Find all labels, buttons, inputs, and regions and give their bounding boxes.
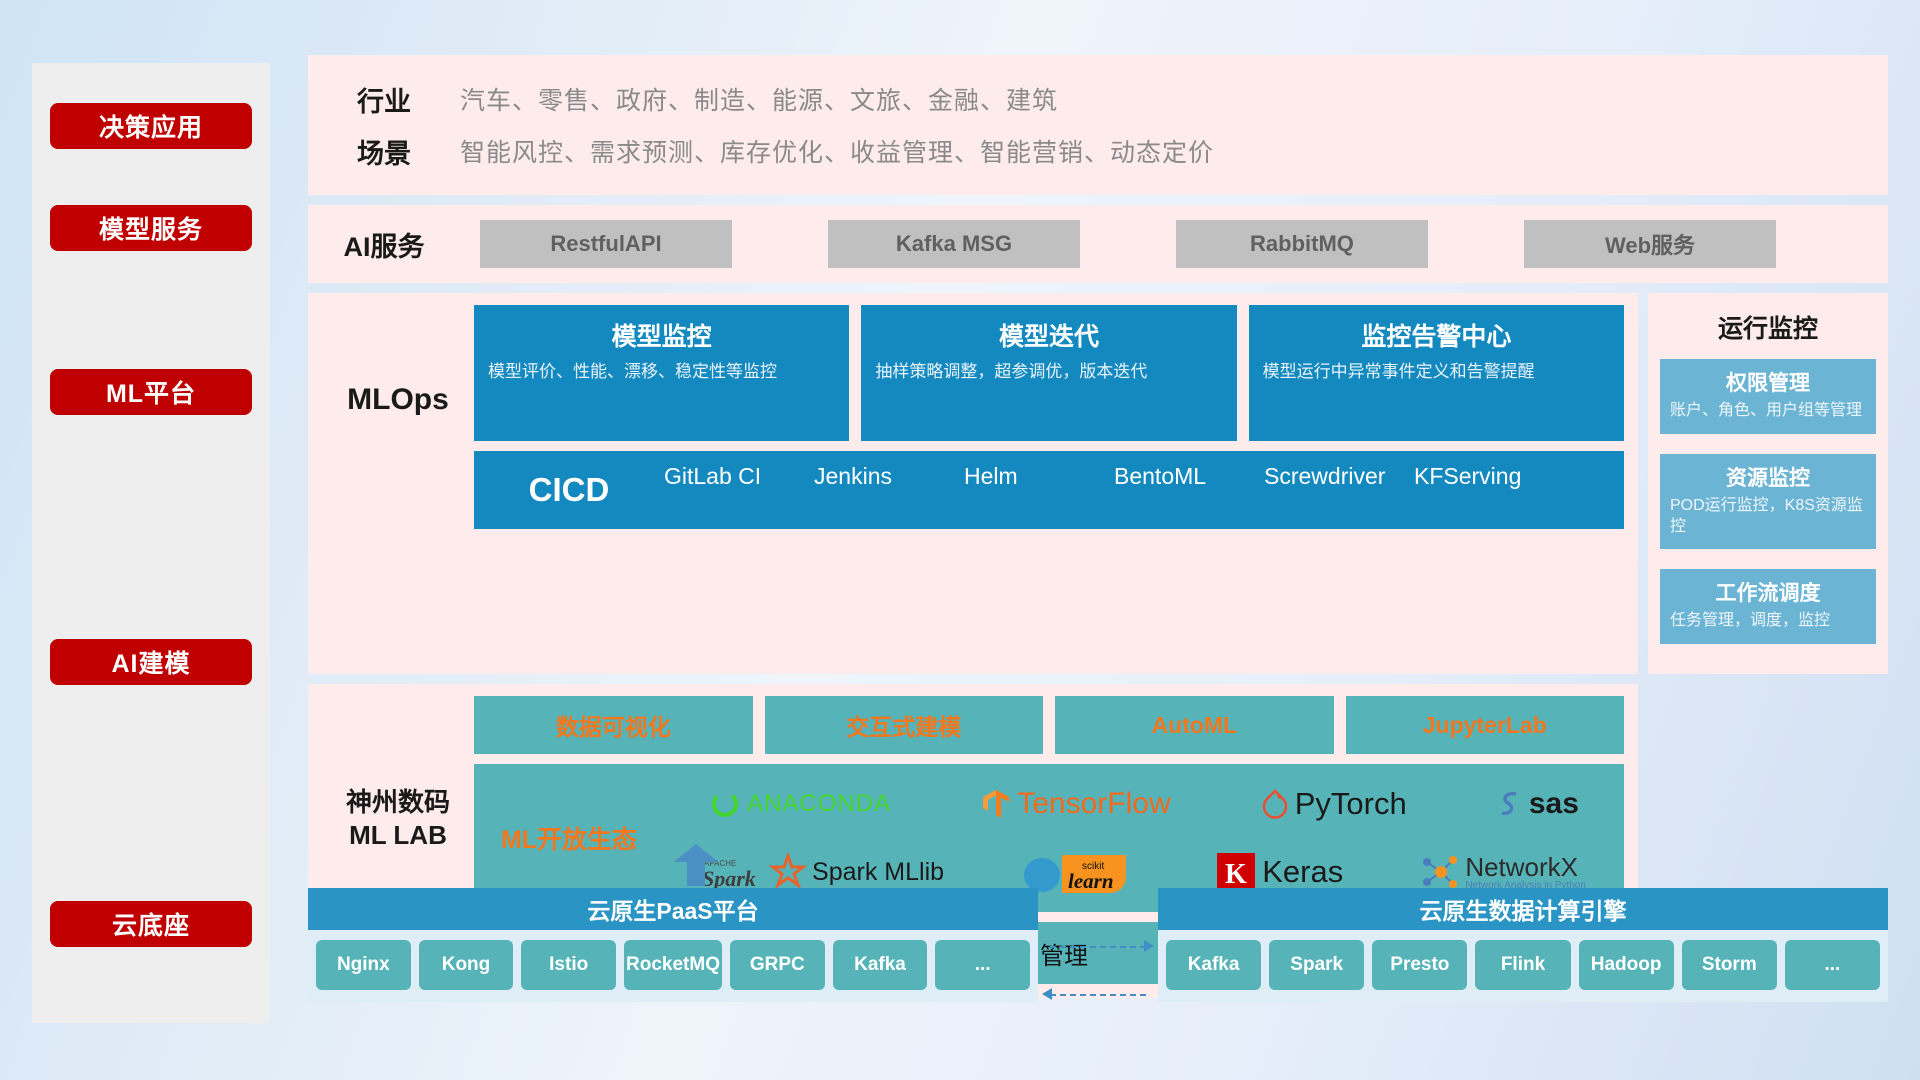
dashed-arrow-right <box>1144 940 1154 952</box>
stack-layer-rail: 决策应用 模型服务 ML平台 AI建模 云底座 <box>32 63 270 1023</box>
band-mlops: MLOps 模型监控 模型评价、性能、漂移、稳定性等监控 模型迭代 抽样策略调整… <box>308 293 1638 674</box>
ai-services-button-group: RestfulAPI Kafka MSG RabbitMQ Web服务 <box>460 220 1776 268</box>
svg-text:K: K <box>1225 859 1247 890</box>
sas-logo: sas <box>1497 787 1579 821</box>
row-ml-platform: MLOps 模型监控 模型评价、性能、漂移、稳定性等监控 模型迭代 抽样策略调整… <box>308 293 1888 674</box>
cloud-data-engine-block: 云原生数据计算引擎 Kafka Spark Presto Flink Hadoo… <box>1158 888 1888 1002</box>
rail-chip-model-service[interactable]: 模型服务 <box>50 205 252 251</box>
paas-chip-kong[interactable]: Kong <box>419 940 514 990</box>
tool-card-interactive-modeling[interactable]: 交互式建模 <box>765 696 1044 754</box>
mlops-card-model-iteration[interactable]: 模型迭代 抽样策略调整，超参调优，版本迭代 <box>861 305 1236 441</box>
cicd-label: CICD <box>474 471 664 509</box>
dashed-link-bottom <box>1050 994 1146 996</box>
pytorch-logo: PyTorch <box>1261 786 1407 822</box>
engine-chip-presto[interactable]: Presto <box>1372 940 1467 990</box>
runtime-monitoring-title: 运行监控 <box>1660 309 1876 345</box>
paas-chip-nginx[interactable]: Nginx <box>316 940 411 990</box>
rail-chip-decision-apps[interactable]: 决策应用 <box>50 103 252 149</box>
band-ai-services: AI服务 RestfulAPI Kafka MSG RabbitMQ Web服务 <box>308 205 1888 283</box>
engine-chip-hadoop[interactable]: Hadoop <box>1579 940 1674 990</box>
card-title: 资源监控 <box>1670 462 1866 492</box>
rail-chip-cloud-base[interactable]: 云底座 <box>50 901 252 947</box>
ml-lab-label: 神州数码 ML LAB <box>322 696 474 851</box>
cicd-item-screwdriver[interactable]: Screwdriver <box>1264 460 1414 520</box>
pytorch-icon <box>1261 788 1289 820</box>
paas-chip-grpc[interactable]: GRPC <box>730 940 825 990</box>
cloud-paas-title: 云原生PaaS平台 <box>308 888 1038 930</box>
ai-service-kafka-msg[interactable]: Kafka MSG <box>828 220 1080 268</box>
spark-mllib-logo: APACHE Spark Spark MLlib <box>702 852 944 892</box>
engine-chip-more[interactable]: ... <box>1785 940 1880 990</box>
keras-logo: K Keras <box>1216 852 1343 892</box>
ai-service-restful-api[interactable]: RestfulAPI <box>480 220 732 268</box>
cicd-item-kfserving[interactable]: KFServing <box>1414 460 1564 520</box>
tool-card-data-visualization[interactable]: 数据可视化 <box>474 696 753 754</box>
industry-label: 行业 <box>308 80 460 119</box>
card-title: 模型迭代 <box>875 317 1222 353</box>
keras-label: Keras <box>1262 854 1343 890</box>
rail-chip-ml-platform[interactable]: ML平台 <box>50 369 252 415</box>
engine-chip-storm[interactable]: Storm <box>1682 940 1777 990</box>
scenario-label: 场景 <box>308 132 460 171</box>
dashed-arrow-left <box>1042 988 1052 1000</box>
cloud-paas-block: 云原生PaaS平台 Nginx Kong Istio RocketMQ GRPC… <box>308 888 1038 1002</box>
ai-service-web[interactable]: Web服务 <box>1524 220 1776 268</box>
cicd-bar: CICD GitLab CI Jenkins Helm BentoML Scre… <box>474 451 1624 529</box>
ml-tool-card-group: 数据可视化 交互式建模 AutoML JupyterLab <box>474 696 1624 754</box>
paas-chip-kafka[interactable]: Kafka <box>833 940 928 990</box>
keras-icon: K <box>1216 852 1256 892</box>
paas-chip-rocketmq[interactable]: RocketMQ <box>624 940 722 990</box>
anaconda-logo: ANACONDA <box>709 788 891 820</box>
ai-service-rabbitmq[interactable]: RabbitMQ <box>1176 220 1428 268</box>
tensorflow-icon <box>981 788 1011 820</box>
engine-chip-flink[interactable]: Flink <box>1475 940 1570 990</box>
mlops-content: 模型监控 模型评价、性能、漂移、稳定性等监控 模型迭代 抽样策略调整，超参调优，… <box>474 305 1624 529</box>
networkx-logo: NetworkX Network Analysis in Python <box>1419 852 1586 892</box>
industry-values: 汽车、零售、政府、制造、能源、文旅、金融、建筑 <box>460 81 1058 117</box>
card-desc: 抽样策略调整，超参调优，版本迭代 <box>875 361 1222 384</box>
ml-open-ecosystem-label: ML开放生态 <box>474 820 664 856</box>
mlops-card-model-monitoring[interactable]: 模型监控 模型评价、性能、漂移、稳定性等监控 <box>474 305 849 441</box>
cloud-base-row: 云原生PaaS平台 Nginx Kong Istio RocketMQ GRPC… <box>308 888 1888 1002</box>
tensorflow-label: TensorFlow <box>1017 787 1170 821</box>
cicd-item-bentoml[interactable]: BentoML <box>1114 460 1264 520</box>
card-desc: 账户、角色、用户组等管理 <box>1670 401 1866 422</box>
band-runtime-monitoring: 运行监控 权限管理 账户、角色、用户组等管理 资源监控 POD运行监控，K8S资… <box>1648 293 1888 674</box>
mllib-label: Spark MLlib <box>812 858 944 887</box>
card-title: 监控告警中心 <box>1263 317 1610 353</box>
ml-lab-label-line1: 神州数码 <box>322 786 474 819</box>
application-row-scenario: 场景 智能风控、需求预测、库存优化、收益管理、智能营销、动态定价 <box>308 125 1888 177</box>
paas-chip-more[interactable]: ... <box>935 940 1030 990</box>
pytorch-label: PyTorch <box>1295 786 1407 822</box>
sas-label: sas <box>1529 787 1579 821</box>
networkx-icon <box>1419 852 1459 892</box>
arrow-up-data-engine <box>674 844 718 886</box>
dashed-link-top <box>1050 946 1146 948</box>
engine-chip-spark[interactable]: Spark <box>1269 940 1364 990</box>
card-desc: 模型评价、性能、漂移、稳定性等监控 <box>488 361 835 384</box>
monitor-card-permission[interactable]: 权限管理 账户、角色、用户组等管理 <box>1660 359 1876 434</box>
anaconda-label: ANACONDA <box>747 790 891 818</box>
ecosystem-logo-row-1: ANACONDA TensorFlow <box>664 771 1624 837</box>
card-desc: 模型运行中异常事件定义和告警提醒 <box>1263 361 1610 384</box>
architecture-main: 行业 汽车、零售、政府、制造、能源、文旅、金融、建筑 场景 智能风控、需求预测、… <box>308 55 1888 998</box>
tool-card-jupyterlab[interactable]: JupyterLab <box>1346 696 1625 754</box>
cicd-item-helm[interactable]: Helm <box>964 460 1114 520</box>
sas-icon <box>1497 789 1523 819</box>
tensorflow-logo: TensorFlow <box>981 787 1170 821</box>
monitor-card-workflow[interactable]: 工作流调度 任务管理，调度，监控 <box>1660 569 1876 644</box>
tool-card-automl[interactable]: AutoML <box>1055 696 1334 754</box>
cloud-data-engine-title: 云原生数据计算引擎 <box>1158 888 1888 930</box>
application-row-industry: 行业 汽车、零售、政府、制造、能源、文旅、金融、建筑 <box>308 73 1888 125</box>
card-title: 工作流调度 <box>1670 577 1866 607</box>
mlops-card-group: 模型监控 模型评价、性能、漂移、稳定性等监控 模型迭代 抽样策略调整，超参调优，… <box>474 305 1624 441</box>
cicd-item-gitlab-ci[interactable]: GitLab CI <box>664 460 814 520</box>
paas-chip-istio[interactable]: Istio <box>521 940 616 990</box>
cicd-item-jenkins[interactable]: Jenkins <box>814 460 964 520</box>
band-decision-applications: 行业 汽车、零售、政府、制造、能源、文旅、金融、建筑 场景 智能风控、需求预测、… <box>308 55 1888 195</box>
monitor-card-resource[interactable]: 资源监控 POD运行监控，K8S资源监控 <box>1660 454 1876 550</box>
ai-services-label: AI服务 <box>308 225 460 264</box>
ml-lab-label-line2: ML LAB <box>322 819 474 852</box>
mlops-card-alert-center[interactable]: 监控告警中心 模型运行中异常事件定义和告警提醒 <box>1249 305 1624 441</box>
cloud-paas-chip-group: Nginx Kong Istio RocketMQ GRPC Kafka ... <box>308 930 1038 1002</box>
card-title: 模型监控 <box>488 317 835 353</box>
anaconda-icon <box>709 788 741 820</box>
ecosystem-logo-grid: ANACONDA TensorFlow <box>664 771 1624 905</box>
cloud-data-engine-chip-group: Kafka Spark Presto Flink Hadoop Storm ..… <box>1158 930 1888 1002</box>
scenario-values: 智能风控、需求预测、库存优化、收益管理、智能营销、动态定价 <box>460 133 1214 169</box>
rail-chip-ai-modeling[interactable]: AI建模 <box>50 639 252 685</box>
card-desc: 任务管理，调度，监控 <box>1670 611 1866 632</box>
engine-chip-kafka[interactable]: Kafka <box>1166 940 1261 990</box>
networkx-label: NetworkX <box>1465 854 1586 880</box>
mlops-label: MLOps <box>322 305 474 417</box>
card-title: 权限管理 <box>1670 367 1866 397</box>
card-desc: POD运行监控，K8S资源监控 <box>1670 496 1866 538</box>
